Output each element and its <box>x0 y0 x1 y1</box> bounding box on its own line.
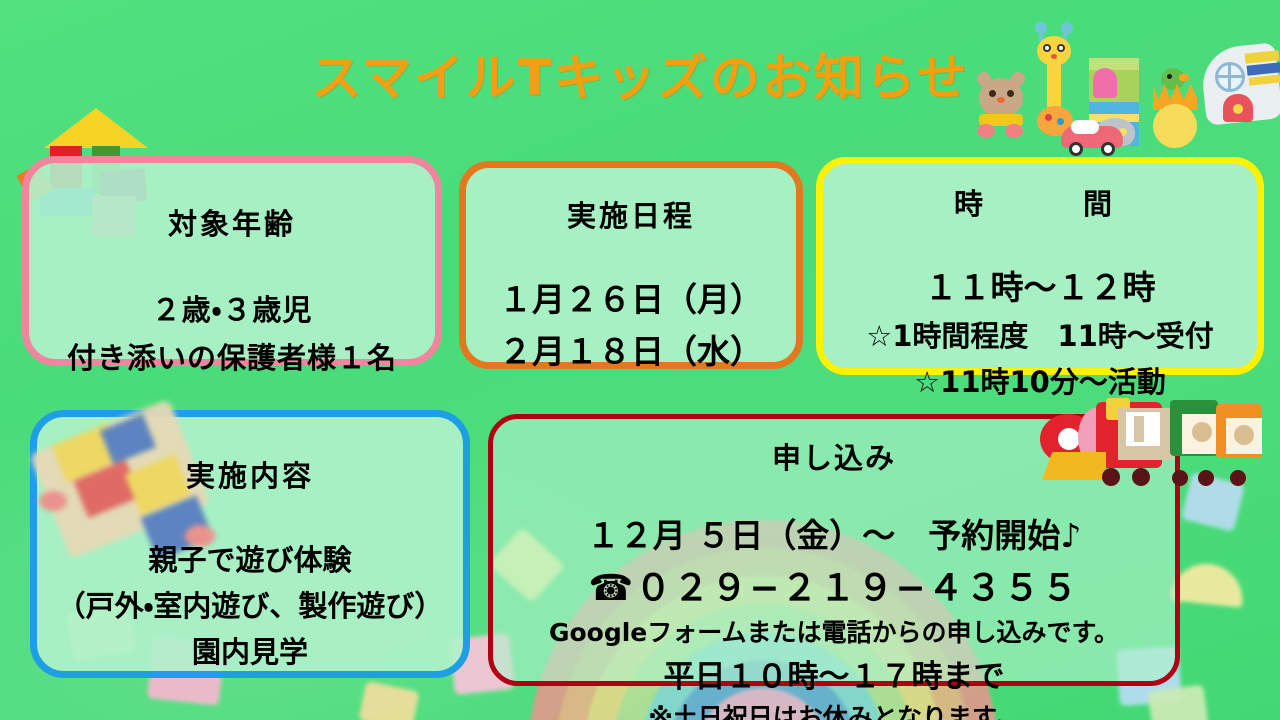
bg-pastel-block <box>1170 560 1246 607</box>
apply-hours: 平日１０時〜１７時まで <box>493 651 1175 696</box>
panel-heading-application: 申し込み <box>493 435 1175 477</box>
panel-activity-content: 実施内容 親子で遊び体験 （戸外・室内遊び、製作遊び） 園内見学 <box>30 410 470 678</box>
toy-illustrations-group <box>955 18 1280 153</box>
bg-pastel-block <box>358 681 419 720</box>
panel-heading-content: 実施内容 <box>37 453 463 495</box>
apply-holiday-note: ※土日祝日はお休みとなります。 <box>493 698 1175 720</box>
content-line-1: 親子で遊び体験 <box>37 537 463 579</box>
schedule-date-1: １月２６日（月） <box>466 273 796 321</box>
panel-target-age: 対象年齢 ２歳・３歳児 付き添いの保護者様１名 <box>22 156 442 366</box>
panel-schedule: 実施日程 １月２６日（月） ２月１８日（水） <box>459 161 803 369</box>
content-line-2: （戸外・室内遊び、製作遊び） <box>37 583 463 625</box>
schedule-date-2: ２月１８日（水） <box>466 325 796 373</box>
panel-heading-time: 時 間 <box>823 181 1257 223</box>
panel-heading-age: 対象年齢 <box>29 201 435 243</box>
content-line-3: 園内見学 <box>37 629 463 671</box>
time-line-1: １１時〜１２時 <box>823 261 1257 309</box>
time-line-3: ☆11時10分〜活動 <box>823 359 1257 401</box>
apply-phone-number[interactable]: ☎０２９−２１９−４３５５ <box>493 559 1175 611</box>
apply-reservation-start: １２月 ５日（金）〜 予約開始♪ <box>493 509 1175 557</box>
apply-method-note: Googleフォームまたは電話からの申し込みです。 <box>493 613 1175 649</box>
age-line-2: 付き添いの保護者様１名 <box>29 335 435 377</box>
panel-time: 時 間 １１時〜１２時 ☆1時間程度 11時〜受付 ☆11時10分〜活動 <box>816 157 1264 375</box>
panel-application: 申し込み １２月 ５日（金）〜 予約開始♪ ☎０２９−２１９−４３５５ Goog… <box>488 414 1180 686</box>
panel-heading-schedule: 実施日程 <box>466 193 796 235</box>
age-line-1: ２歳・３歳児 <box>29 287 435 329</box>
time-line-2: ☆1時間程度 11時〜受付 <box>823 313 1257 355</box>
poster-canvas: スマイルTキッズのお知らせ <box>0 0 1280 720</box>
